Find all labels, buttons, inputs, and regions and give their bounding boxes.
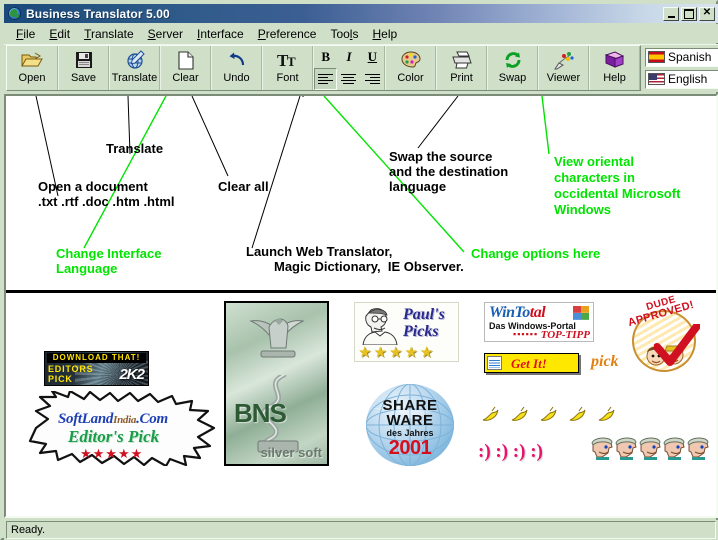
align-center-icon[interactable] <box>337 68 360 90</box>
bird-icon <box>568 406 588 426</box>
smiley-rating-text: :) :) :) :) <box>478 441 543 463</box>
annotation-viewer-line2: characters in <box>554 170 635 185</box>
badge-shareware-2001: SHARE WARE des Jahres 2001 <box>366 384 454 466</box>
download-that-editors: EDITORS <box>48 364 93 374</box>
underline-button[interactable]: U <box>361 46 384 68</box>
window-controls: ✕ <box>663 7 715 21</box>
minimize-button[interactable] <box>663 7 679 21</box>
annotation-swap-line1: Swap the source <box>389 149 492 164</box>
maximize-button[interactable] <box>681 7 697 21</box>
pauls-line2: Picks <box>403 323 439 341</box>
source-language-value: Spanish <box>668 50 718 64</box>
paul-face-icon <box>359 307 401 345</box>
undo-arrow-icon <box>212 49 261 71</box>
section-divider <box>6 290 716 293</box>
annotation-interface-line2: Language <box>56 261 117 276</box>
menu-item-server[interactable]: Server <box>141 26 190 42</box>
annotation-open-line1: Open a document <box>38 179 148 194</box>
toolbar-label-print: Print <box>450 72 473 84</box>
toolbar-button-undo[interactable]: Undo <box>211 46 262 90</box>
annotation-preference: Change options here <box>471 246 600 261</box>
annotation-viewer-line1: View oriental <box>554 154 634 169</box>
font-tt-icon: T T <box>263 49 312 71</box>
toolbar-label-undo: Undo <box>223 72 249 84</box>
wintotal-tip: TOP-TIPP <box>541 329 590 341</box>
bns-tagline: silver soft <box>261 445 322 460</box>
windows-window-icon <box>487 356 502 370</box>
face-icon <box>591 436 613 460</box>
close-button[interactable]: ✕ <box>699 7 715 21</box>
align-left-icon[interactable] <box>314 68 337 90</box>
smiley-rating-row: :) :) :) :) <box>478 441 543 463</box>
menu-item-help[interactable]: Help <box>365 26 404 42</box>
toolbar-label-swap: Swap <box>499 72 527 84</box>
language-selectors: Spanish English <box>645 45 718 91</box>
annotation-swap-line3: language <box>389 179 446 194</box>
toolbar-button-color[interactable]: Color <box>385 46 436 90</box>
pauls-stars: ★★★★★ <box>358 343 435 361</box>
menu-item-tools[interactable]: Tools <box>323 26 365 42</box>
menu-item-file[interactable]: File <box>9 26 42 42</box>
toolbar-button-save[interactable]: Save <box>58 46 109 90</box>
toolbar-label-viewer: Viewer <box>547 72 580 84</box>
bird-icon <box>481 406 501 426</box>
softland-title: Editor's Pick <box>68 427 159 447</box>
badge-bns-silver-soft: BNS silver soft <box>224 301 329 466</box>
face-icon <box>663 436 685 460</box>
annotation-swap-line2: and the destination <box>389 164 508 179</box>
windows-logo-icon <box>573 306 589 320</box>
bird-icon <box>597 406 617 426</box>
bold-button[interactable]: B <box>314 46 337 68</box>
annotation-interface-line1: Change Interface <box>56 246 161 261</box>
swap-arrows-icon <box>488 49 537 71</box>
window-title: Business Translator 5.00 <box>26 7 170 21</box>
face-icon <box>687 436 709 460</box>
palette-icon <box>386 49 435 71</box>
menu-item-edit[interactable]: Edit <box>42 26 77 42</box>
download-that-top: DOWNLOAD THAT! <box>47 353 146 363</box>
title-bar: Business Translator 5.00 ✕ <box>4 4 718 23</box>
toolbar-label-clear: Clear <box>172 72 198 84</box>
badge-pauls-picks: Paul's Picks ★★★★★ <box>354 302 459 362</box>
status-bar: Ready. <box>4 520 718 540</box>
shareware-year: 2001 <box>389 437 432 460</box>
menu-bar: File Edit Translate Server Interface Pre… <box>4 24 718 43</box>
annotation-clear: Clear all <box>218 179 269 194</box>
open-folder-icon <box>7 49 57 71</box>
wintotal-brand: WinTotal <box>489 304 545 322</box>
red-checkmark-icon <box>654 324 700 370</box>
viewer-icon <box>539 49 588 71</box>
bird-icon <box>510 406 530 426</box>
softland-stars: ★★★★★ <box>80 446 143 462</box>
target-language-select[interactable]: English <box>645 70 718 89</box>
pauls-line1: Paul's <box>403 306 445 324</box>
menu-item-preference[interactable]: Preference <box>251 26 324 42</box>
badge-dude-approved: DUDE APPROVED! <box>626 298 706 376</box>
blank-page-icon <box>161 49 210 71</box>
softland-brand: SoftLandIndia.Com <box>58 411 168 428</box>
document-area[interactable]: Translate Open a document .txt .rtf .doc… <box>4 94 718 518</box>
toolbar-button-translate[interactable]: Translate <box>109 46 160 90</box>
toolbar-label-font: Font <box>276 72 298 84</box>
annotation-viewer-line4: Windows <box>554 202 611 217</box>
download-that-year: 2K2 <box>119 366 144 383</box>
toolbar-label-open: Open <box>19 72 46 84</box>
italic-button[interactable]: I <box>337 46 360 68</box>
toolbar-label-save: Save <box>71 72 96 84</box>
bird-icon <box>539 406 559 426</box>
flag-usa-icon <box>648 73 665 85</box>
award-badges: DOWNLOAD THAT! EDITORS PICK 2K2 SoftLand… <box>6 296 716 516</box>
annotation-tools-line2: Magic Dictionary, IE Observer. <box>274 259 464 274</box>
toolbar: Open Save <box>4 44 718 92</box>
toolbar-button-help[interactable]: Help <box>589 46 640 90</box>
bird-rating-row <box>481 406 617 426</box>
target-language-value: English <box>668 72 718 86</box>
globe-icon <box>7 6 22 21</box>
status-text: Ready. <box>6 521 716 539</box>
toolbar-button-viewer[interactable]: Viewer <box>538 46 589 90</box>
shareware-line2: WARE <box>387 412 434 429</box>
face-rating-row <box>591 436 709 460</box>
toolbar-label-color: Color <box>397 72 423 84</box>
face-icon <box>615 436 637 460</box>
download-that-pick: PICK <box>48 374 73 384</box>
get-it-suffix: pick <box>591 353 619 371</box>
globe-pen-icon <box>110 49 159 71</box>
menu-item-translate[interactable]: Translate <box>77 26 141 42</box>
badge-download-that: DOWNLOAD THAT! EDITORS PICK 2K2 <box>44 351 149 386</box>
application-window: Business Translator 5.00 ✕ File Edit Tra… <box>0 0 718 540</box>
toolbar-label-translate: Translate <box>112 72 157 84</box>
toolbar-button-group: Open Save <box>6 45 641 91</box>
toolbar-button-font[interactable]: T T Font <box>262 46 313 90</box>
bns-name: BNS <box>234 398 286 429</box>
badge-softland-india: SoftLandIndia.Com Editor's Pick ★★★★★ <box>28 391 223 466</box>
toolbar-button-clear[interactable]: Clear <box>160 46 211 90</box>
book-help-icon <box>590 49 639 71</box>
wintotal-dots: ▪▪▪▪▪▪ <box>513 329 538 339</box>
get-it-label: Get It! <box>511 356 547 372</box>
annotation-viewer-line3: occidental Microsoft <box>554 186 680 201</box>
toolbar-button-swap[interactable]: Swap <box>487 46 538 90</box>
annotation-tools-line1: Launch Web Translator, <box>246 244 392 259</box>
align-right-icon[interactable] <box>361 68 384 90</box>
floppy-disk-icon <box>59 49 108 71</box>
face-icon <box>639 436 661 460</box>
menu-item-interface[interactable]: Interface <box>190 26 251 42</box>
format-button-group: B I U <box>313 46 385 90</box>
toolbar-button-open[interactable]: Open <box>7 46 58 90</box>
badge-wintotal: WinTotal Das Windows-Portal ▪▪▪▪▪▪ TOP-T… <box>484 302 594 342</box>
svg-text:T: T <box>287 54 296 69</box>
toolbar-button-print[interactable]: Print <box>436 46 487 90</box>
eagle-statue-icon <box>235 317 319 377</box>
annotation-open-line2: .txt .rtf .doc .htm .html <box>38 194 175 209</box>
printer-icon <box>437 49 486 71</box>
annotation-translate: Translate <box>106 141 163 156</box>
badge-get-it: Get It! <box>484 353 579 373</box>
flag-spain-icon <box>648 51 665 63</box>
toolbar-label-help: Help <box>603 72 626 84</box>
source-language-select[interactable]: Spanish <box>645 48 718 67</box>
